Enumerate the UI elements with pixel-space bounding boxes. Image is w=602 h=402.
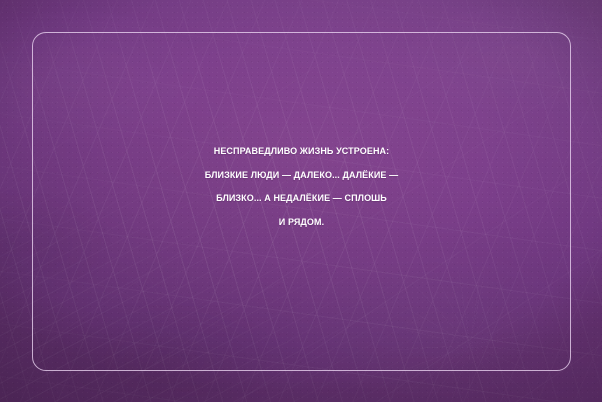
quote-text-block: НЕСПРАВЕДЛИВО ЖИЗНЬ УСТРОЕНА: БЛИЗКИЕ ЛЮ… bbox=[32, 140, 571, 234]
quote-line-1: НЕСПРАВЕДЛИВО ЖИЗНЬ УСТРОЕНА: bbox=[32, 140, 571, 164]
quote-card: НЕСПРАВЕДЛИВО ЖИЗНЬ УСТРОЕНА: БЛИЗКИЕ ЛЮ… bbox=[0, 0, 602, 402]
quote-line-2: БЛИЗКИЕ ЛЮДИ — ДАЛЕКО... ДАЛЁКИЕ — bbox=[32, 164, 571, 188]
quote-line-4: И РЯДОМ. bbox=[32, 211, 571, 235]
quote-line-3: БЛИЗКО... А НЕДАЛЁКИЕ — СПЛОШЬ bbox=[32, 187, 571, 211]
